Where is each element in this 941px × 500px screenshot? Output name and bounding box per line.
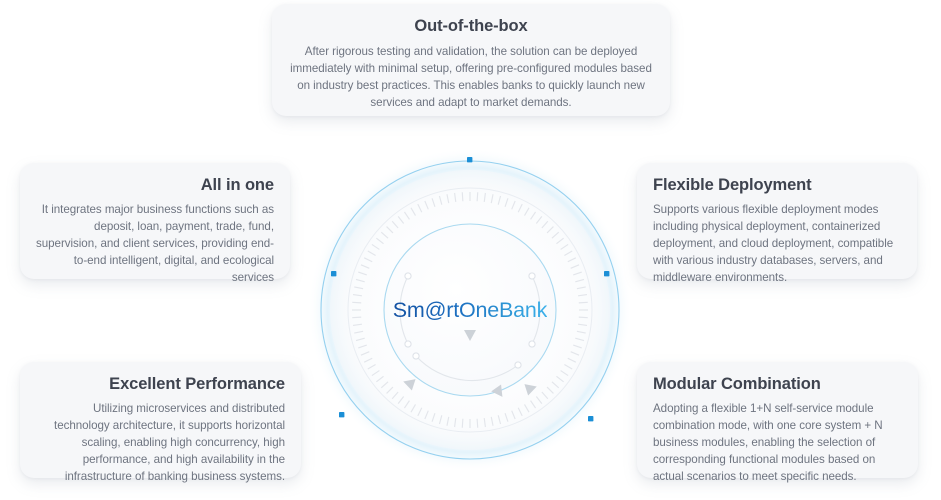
- card-body: Utilizing microservices and distributed …: [36, 400, 285, 485]
- ring-dot: [467, 157, 472, 162]
- card-title: Out-of-the-box: [288, 16, 654, 37]
- tick-mark: [579, 302, 588, 303]
- card-title: Excellent Performance: [36, 374, 285, 395]
- ring-dot: [604, 271, 609, 276]
- card-title: Modular Combination: [653, 374, 902, 395]
- tick-mark: [352, 302, 361, 303]
- arc-endpoint-dot: [413, 353, 419, 359]
- arc-endpoint-dot: [515, 362, 521, 368]
- card-title: All in one: [36, 175, 274, 196]
- tick-mark: [477, 419, 478, 428]
- tick-mark: [579, 317, 588, 318]
- central-ring-graphic: Sm@rtOneBank: [300, 140, 640, 480]
- ring-dot: [331, 271, 336, 276]
- arc-endpoint-dot: [405, 273, 411, 279]
- arc-endpoint-dot: [529, 273, 535, 279]
- tick-mark: [352, 317, 361, 318]
- feature-card-modular-combination[interactable]: Modular Combination Adopting a flexible …: [637, 362, 918, 478]
- feature-card-flexible-deployment[interactable]: Flexible Deployment Supports various fle…: [637, 163, 917, 279]
- feature-card-out-of-the-box[interactable]: Out-of-the-box After rigorous testing an…: [272, 4, 670, 116]
- card-body: Adopting a flexible 1+N self-service mod…: [653, 400, 902, 485]
- feature-card-all-in-one[interactable]: All in one It integrates major business …: [20, 163, 290, 279]
- card-body: After rigorous testing and validation, t…: [288, 43, 654, 111]
- arc-endpoint-dot: [529, 341, 535, 347]
- feature-diagram: Out-of-the-box After rigorous testing an…: [0, 0, 941, 500]
- tick-mark: [462, 192, 463, 201]
- card-body: Supports various flexible deployment mod…: [653, 201, 901, 286]
- ring-dot: [588, 416, 593, 421]
- tick-mark: [477, 192, 478, 201]
- card-body: It integrates major business functions s…: [36, 201, 274, 286]
- arc-endpoint-dot: [405, 341, 411, 347]
- card-title: Flexible Deployment: [653, 175, 901, 196]
- ring-dot: [339, 412, 344, 417]
- ring-svg: [300, 140, 640, 480]
- tick-mark: [462, 419, 463, 428]
- feature-card-excellent-performance[interactable]: Excellent Performance Utilizing microser…: [20, 362, 301, 478]
- inner-ring: [384, 224, 556, 396]
